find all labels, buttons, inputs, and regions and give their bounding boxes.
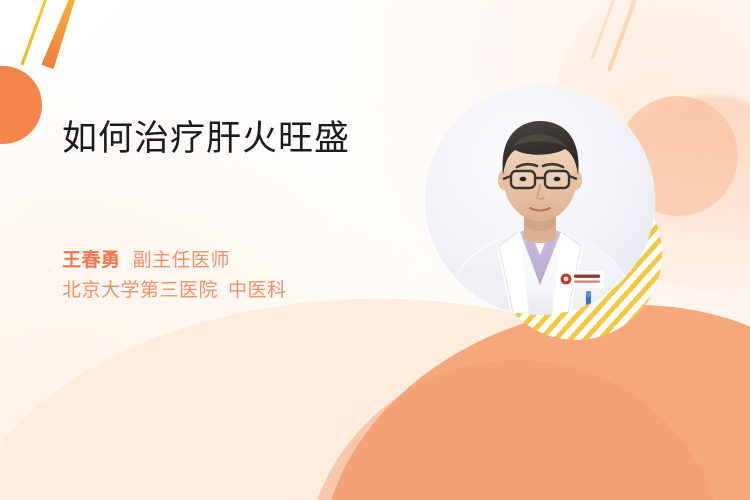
byline-row-affiliation: 北京大学第三医院中医科 (62, 276, 442, 306)
doctor-portrait (425, 85, 655, 315)
page-title: 如何治疗肝火旺盛 (62, 118, 422, 161)
doctor-department: 中医科 (228, 280, 287, 301)
doctor-name: 王春勇 (62, 250, 121, 271)
hospital-badge (558, 271, 604, 288)
doctor-affiliation: 北京大学第三医院 (62, 280, 218, 301)
title-block: 如何治疗肝火旺盛 (62, 118, 422, 161)
byline-row-name: 王春勇副主任医师 (62, 246, 442, 276)
video-title-card: 如何治疗肝火旺盛 王春勇副主任医师 北京大学第三医院中医科 (0, 0, 750, 500)
doctor-portrait-illustration (425, 85, 655, 315)
byline-block: 王春勇副主任医师 北京大学第三医院中医科 (62, 246, 442, 306)
doctor-title: 副主任医师 (133, 250, 231, 271)
